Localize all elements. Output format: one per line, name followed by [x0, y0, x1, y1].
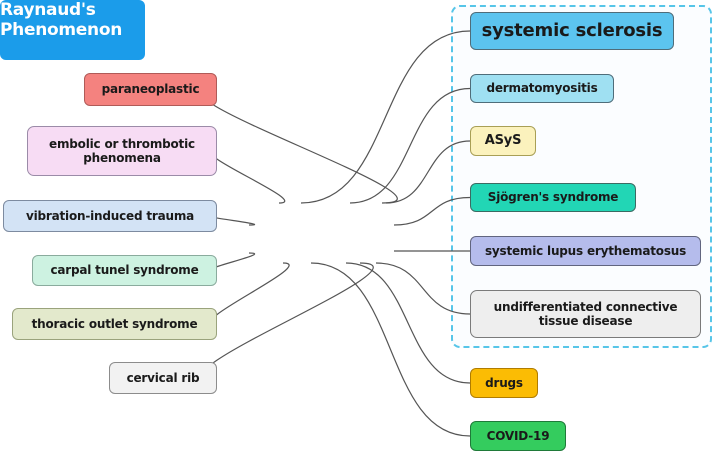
- node-label-line2: phenomena: [83, 151, 161, 165]
- node-embolic-or-thrombotic-phenomena[interactable]: embolic or thromboticphenomena: [27, 126, 217, 176]
- mindmap-canvas: Raynaud's Phenomenon paraneoplasticembol…: [0, 0, 720, 460]
- connector-line: [350, 89, 470, 204]
- connector-line: [202, 90, 398, 204]
- node-carpal-tunel-syndrome[interactable]: carpal tunel syndrome: [32, 255, 217, 286]
- connector-line: [394, 198, 470, 226]
- node-label: systemic sclerosis: [482, 20, 663, 41]
- node-label-line1: embolic or thrombotic: [49, 137, 195, 151]
- node-label: cervical rib: [127, 371, 200, 385]
- node-label: ASyS: [485, 133, 521, 148]
- node-drugs[interactable]: drugs: [470, 368, 538, 398]
- node-dermatomyositis[interactable]: dermatomyositis: [470, 74, 614, 103]
- node-label-line1: undifferentiated connective: [494, 300, 678, 314]
- node-label: dermatomyositis: [486, 81, 597, 95]
- node-cervical-rib[interactable]: cervical rib: [109, 362, 217, 394]
- node-label-line2: tissue disease: [539, 314, 633, 328]
- connector-line: [204, 263, 374, 378]
- node-asys[interactable]: ASyS: [470, 126, 536, 156]
- connector-line: [211, 253, 254, 271]
- node-label: COVID-19: [487, 429, 550, 443]
- node-covid-19[interactable]: COVID-19: [470, 421, 566, 451]
- node-vibration-induced-trauma[interactable]: vibration-induced trauma: [3, 200, 217, 232]
- connector-line: [386, 141, 470, 203]
- node-label: drugs: [485, 376, 523, 390]
- node-undifferentiated-connective-tissue-disease[interactable]: undifferentiated connectivetissue diseas…: [470, 290, 701, 338]
- node-label: thoracic outlet syndrome: [32, 317, 198, 331]
- connector-line: [211, 216, 254, 225]
- node-sjogrens-syndrome[interactable]: Sjögren's syndrome: [470, 183, 636, 212]
- connector-line: [211, 151, 284, 203]
- node-paraneoplastic[interactable]: paraneoplastic: [84, 73, 217, 106]
- connector-line: [211, 263, 289, 324]
- node-label: systemic lupus erythematosus: [485, 244, 686, 258]
- node-systemic-lupus-erythematosus[interactable]: systemic lupus erythematosus: [470, 236, 701, 266]
- node-label: carpal tunel syndrome: [50, 263, 198, 277]
- connector-line: [301, 31, 470, 203]
- node-label: Sjögren's syndrome: [488, 190, 619, 204]
- connector-line: [346, 263, 470, 383]
- node-label: vibration-induced trauma: [26, 209, 194, 223]
- node-thoracic-outlet-syndrome[interactable]: thoracic outlet syndrome: [12, 308, 217, 340]
- node-systemic-sclerosis[interactable]: systemic sclerosis: [470, 12, 674, 50]
- node-label: paraneoplastic: [102, 82, 200, 96]
